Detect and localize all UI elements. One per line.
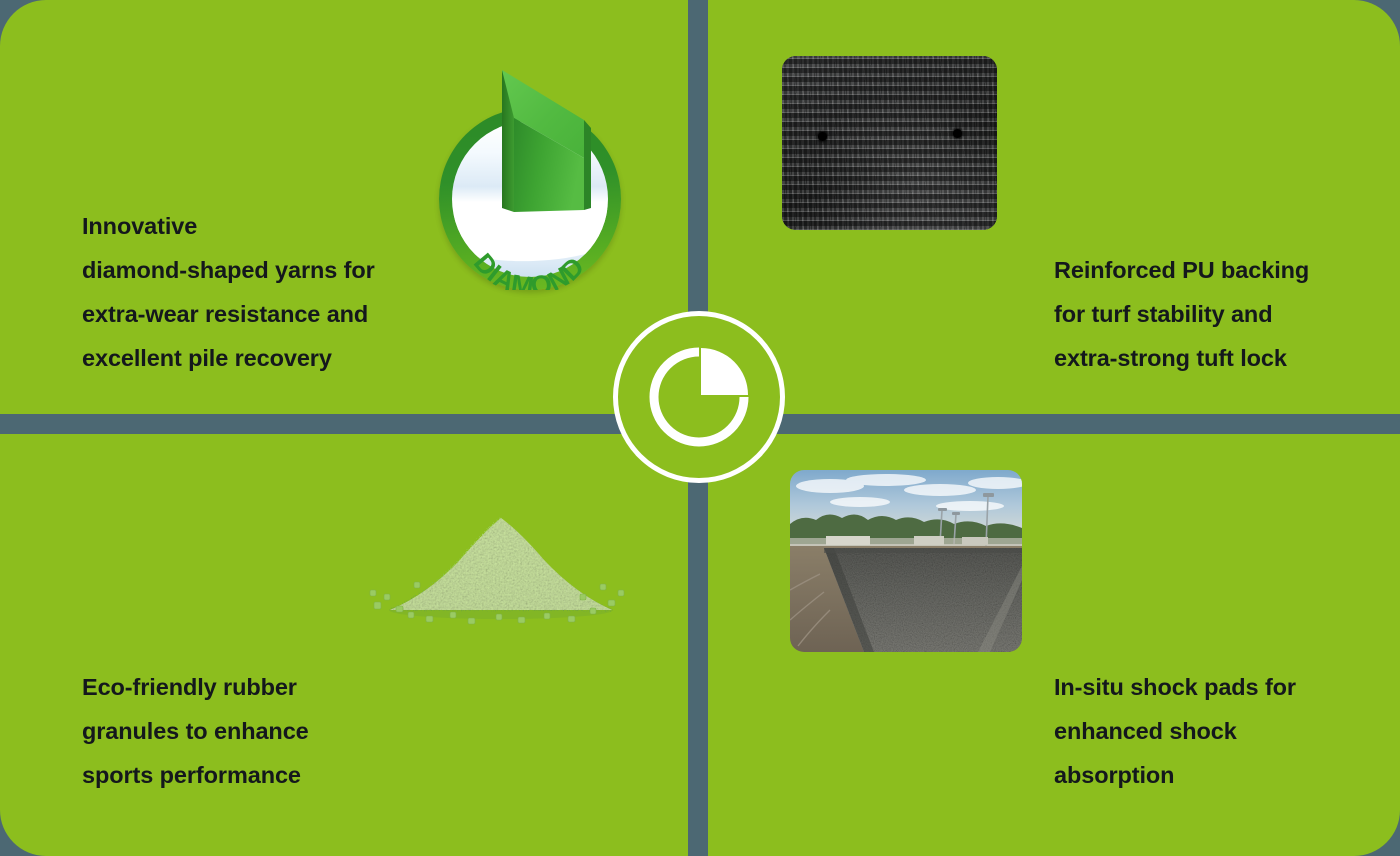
pu-drainage-hole — [953, 129, 962, 138]
pu-backing-texture — [782, 56, 997, 230]
caption-shock-pads: In-situ shock pads for enhanced shock ab… — [1054, 665, 1384, 797]
badge-word-text: DIAMOND — [468, 248, 591, 290]
turf-features-infographic: Innovative diamond-shaped yarns for extr… — [0, 0, 1400, 856]
badge-wordmark: DIAMOND — [439, 108, 621, 290]
shock-pad-scene — [790, 470, 1022, 652]
caption-rubber-granules: Eco-friendly rubber granules to enhance … — [82, 665, 422, 797]
diamond-badge-logo: DIAMOND — [439, 108, 621, 290]
pie-chart-icon — [613, 311, 785, 483]
rubber-granules-pile — [368, 498, 634, 626]
caption-pu-backing: Reinforced PU backing for turf stability… — [1054, 248, 1384, 380]
shock-pad-field-photo — [790, 470, 1022, 652]
pie-chart-glyph — [640, 338, 758, 456]
pu-backing-swatch — [782, 56, 997, 230]
pu-drainage-hole — [818, 132, 827, 141]
